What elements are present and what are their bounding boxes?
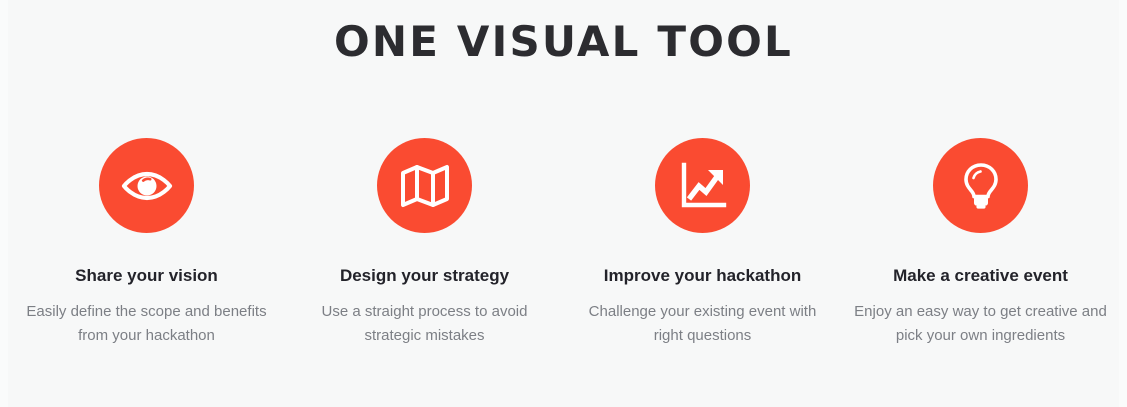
- feature-section: ONE VISUAL TOOL Share your vision Easily…: [0, 0, 1127, 407]
- feature-title: Design your strategy: [340, 265, 509, 287]
- feature-title: Improve your hackathon: [604, 265, 801, 287]
- feature-description: Use a straight process to avoid strategi…: [295, 300, 555, 349]
- feature-title: Make a creative event: [893, 265, 1068, 287]
- chart-growth-icon: [655, 138, 750, 233]
- feature-description: Easily define the scope and benefits fro…: [17, 300, 277, 349]
- feature-item-share-your-vision: Share your vision Easily define the scop…: [8, 138, 285, 349]
- page-title: ONE VISUAL TOOL: [0, 17, 1127, 67]
- feature-item-improve-your-hackathon: Improve your hackathon Challenge your ex…: [564, 138, 841, 349]
- feature-columns: Share your vision Easily define the scop…: [8, 138, 1119, 349]
- feature-item-make-a-creative-event: Make a creative event Enjoy an easy way …: [842, 138, 1119, 349]
- map-icon: [377, 138, 472, 233]
- feature-description: Challenge your existing event with right…: [573, 300, 833, 349]
- eye-icon: [99, 138, 194, 233]
- lightbulb-icon: [933, 138, 1028, 233]
- feature-item-design-your-strategy: Design your strategy Use a straight proc…: [286, 138, 563, 349]
- feature-title: Share your vision: [75, 265, 218, 287]
- feature-description: Enjoy an easy way to get creative and pi…: [851, 300, 1111, 349]
